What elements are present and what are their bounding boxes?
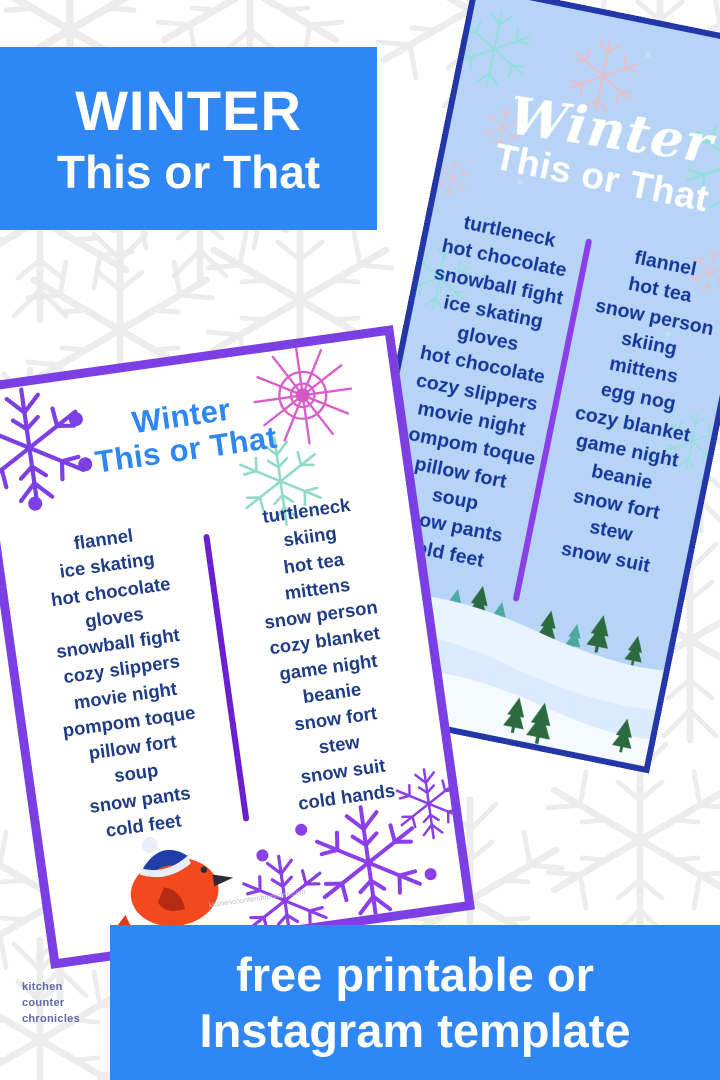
top-banner-line2: This or That xyxy=(57,147,320,198)
bottom-caption-banner: free printable or Instagram template xyxy=(110,925,720,1080)
watermark-line1: kitchen xyxy=(22,980,80,996)
bottom-banner-line2: Instagram template xyxy=(200,1003,631,1058)
white-printable-card[interactable]: Winter This or That flannelice skatingho… xyxy=(0,325,475,969)
site-watermark: kitchen counter chronicles xyxy=(22,980,80,1028)
bottom-banner-line1: free printable or xyxy=(236,947,594,1002)
watermark-line3: chronicles xyxy=(22,1012,80,1028)
top-title-banner: WINTER This or That xyxy=(0,47,377,230)
watermark-line2: counter xyxy=(22,996,80,1012)
top-banner-line1: WINTER xyxy=(75,83,302,139)
